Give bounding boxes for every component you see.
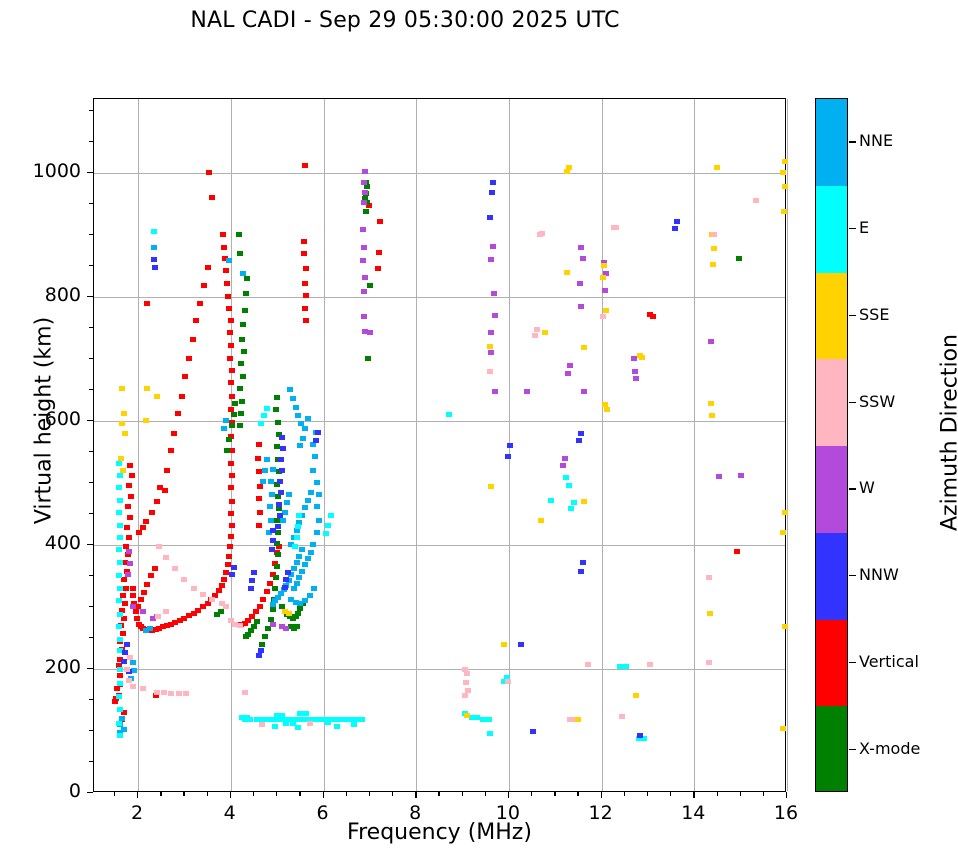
echo-point bbox=[601, 263, 607, 268]
echo-point bbox=[262, 468, 268, 473]
echo-point bbox=[708, 401, 714, 406]
echo-point bbox=[295, 413, 301, 418]
echo-point bbox=[176, 691, 182, 696]
echo-point bbox=[323, 531, 329, 536]
colorbar bbox=[815, 98, 848, 792]
echo-point bbox=[276, 506, 282, 511]
echo-point bbox=[117, 673, 123, 678]
echo-point bbox=[563, 475, 569, 480]
echo-point bbox=[229, 523, 235, 528]
echo-point bbox=[302, 598, 308, 603]
echo-point bbox=[490, 180, 496, 185]
echo-point bbox=[279, 713, 285, 718]
x-tick-major bbox=[508, 792, 509, 798]
echo-point bbox=[279, 468, 285, 473]
echo-point bbox=[256, 523, 262, 528]
echo-point bbox=[539, 231, 545, 236]
colorbar-title: Azimuth Direction bbox=[938, 303, 958, 563]
echo-point bbox=[781, 209, 787, 214]
echo-point bbox=[361, 245, 367, 250]
echo-point bbox=[224, 281, 230, 286]
echo-point bbox=[301, 239, 307, 244]
echo-point bbox=[225, 294, 231, 299]
x-tick-minor bbox=[369, 792, 370, 796]
echo-point bbox=[226, 437, 232, 442]
echo-point bbox=[711, 246, 717, 251]
echo-point bbox=[270, 622, 276, 627]
y-tick-major bbox=[87, 668, 93, 669]
echo-point bbox=[151, 229, 157, 234]
echo-point bbox=[581, 389, 587, 394]
echo-point bbox=[124, 642, 130, 647]
echo-point bbox=[237, 623, 243, 628]
echo-point bbox=[268, 518, 274, 523]
echo-point bbox=[244, 715, 250, 720]
echo-point bbox=[490, 244, 496, 249]
echo-point bbox=[782, 624, 788, 629]
echo-point bbox=[488, 350, 494, 355]
echo-point bbox=[487, 369, 493, 374]
echo-point bbox=[361, 289, 367, 294]
echo-point bbox=[126, 483, 132, 488]
echo-point bbox=[154, 499, 160, 504]
echo-point bbox=[116, 694, 122, 699]
echo-point bbox=[534, 327, 540, 332]
echo-point bbox=[256, 469, 262, 474]
echo-point bbox=[270, 538, 276, 543]
echo-point bbox=[257, 510, 263, 515]
echo-point bbox=[201, 283, 207, 288]
echo-point bbox=[613, 225, 619, 230]
echo-point bbox=[237, 386, 243, 391]
echo-point bbox=[359, 717, 365, 722]
echo-point bbox=[780, 726, 786, 731]
colorbar-label-e: E bbox=[859, 218, 869, 237]
echo-point bbox=[314, 504, 320, 509]
x-tick-minor bbox=[253, 792, 254, 796]
echo-point bbox=[227, 544, 233, 549]
echo-point bbox=[148, 573, 154, 578]
echo-point bbox=[229, 394, 235, 399]
echo-point bbox=[486, 717, 492, 722]
echo-point bbox=[297, 443, 303, 448]
echo-point bbox=[256, 442, 262, 447]
echo-point bbox=[163, 609, 169, 614]
x-tick-minor bbox=[114, 792, 115, 796]
echo-point bbox=[501, 642, 507, 647]
echo-point bbox=[564, 270, 570, 275]
echo-point bbox=[488, 257, 494, 262]
echo-point bbox=[147, 626, 153, 631]
echo-point bbox=[377, 219, 383, 224]
echo-point bbox=[260, 479, 266, 484]
colorbar-tick bbox=[849, 575, 856, 576]
echo-point bbox=[221, 577, 227, 582]
echo-point bbox=[232, 401, 238, 406]
x-tick-minor bbox=[160, 792, 161, 796]
echo-point bbox=[542, 330, 548, 335]
echo-point bbox=[262, 634, 268, 639]
x-tick-minor bbox=[763, 792, 764, 796]
echo-point bbox=[193, 318, 199, 323]
echo-point bbox=[152, 566, 158, 571]
x-tick-minor bbox=[531, 792, 532, 796]
echo-point bbox=[131, 668, 137, 673]
echo-point bbox=[127, 561, 133, 566]
y-tick-major bbox=[87, 544, 93, 545]
echo-point bbox=[492, 389, 498, 394]
echo-point bbox=[632, 369, 638, 374]
echo-point bbox=[292, 544, 298, 549]
echo-point bbox=[223, 268, 229, 273]
echo-point bbox=[216, 588, 222, 593]
colorbar-label-x-mode: X-mode bbox=[859, 739, 920, 758]
echo-point bbox=[228, 380, 234, 385]
echo-point bbox=[117, 637, 123, 642]
echo-point bbox=[270, 467, 276, 472]
x-tick-major bbox=[137, 792, 138, 798]
x-tick-minor bbox=[207, 792, 208, 796]
echo-point bbox=[487, 731, 493, 736]
colorbar-label-ssw: SSW bbox=[859, 392, 895, 411]
echo-point bbox=[270, 602, 276, 607]
echo-point bbox=[117, 681, 123, 686]
echo-point bbox=[116, 485, 122, 490]
echo-point bbox=[134, 616, 140, 621]
y-tick-minor bbox=[89, 141, 93, 142]
echo-point bbox=[782, 510, 788, 515]
echo-point bbox=[489, 190, 495, 195]
echo-point bbox=[220, 232, 226, 237]
echo-point bbox=[316, 492, 322, 497]
echo-point bbox=[284, 500, 290, 505]
echo-point bbox=[140, 609, 146, 614]
echo-point bbox=[562, 456, 568, 461]
x-tick-minor bbox=[740, 792, 741, 796]
echo-point bbox=[130, 604, 136, 609]
echo-point bbox=[578, 245, 584, 250]
echo-point bbox=[278, 457, 284, 462]
echo-point bbox=[200, 592, 206, 597]
echo-point bbox=[294, 624, 300, 629]
y-tick-minor bbox=[89, 575, 93, 576]
echo-point bbox=[205, 265, 211, 270]
echo-point bbox=[637, 733, 643, 738]
colorbar-tick bbox=[849, 228, 856, 229]
y-tick-minor bbox=[89, 482, 93, 483]
echo-point bbox=[116, 547, 122, 552]
echo-point bbox=[249, 578, 255, 583]
echo-point bbox=[287, 387, 293, 392]
echo-point bbox=[248, 586, 254, 591]
echo-point bbox=[154, 394, 160, 399]
echo-point bbox=[302, 281, 308, 286]
echo-point bbox=[244, 276, 250, 281]
echo-point bbox=[275, 552, 281, 557]
echo-point bbox=[121, 727, 127, 732]
echo-point bbox=[264, 589, 270, 594]
echo-point bbox=[141, 590, 147, 595]
echo-point bbox=[283, 577, 289, 582]
echo-point bbox=[261, 413, 267, 418]
echo-point bbox=[191, 586, 197, 591]
echo-point bbox=[295, 611, 301, 616]
echo-point bbox=[116, 573, 122, 578]
echo-point bbox=[633, 693, 639, 698]
echo-point bbox=[302, 562, 308, 567]
echo-point bbox=[268, 479, 274, 484]
x-tick-minor bbox=[485, 792, 486, 796]
echo-point bbox=[129, 473, 135, 478]
echo-point bbox=[227, 356, 233, 361]
echo-point bbox=[328, 513, 334, 518]
x-tick-minor bbox=[276, 792, 277, 796]
echo-point bbox=[126, 535, 132, 540]
echo-point bbox=[302, 306, 308, 311]
echo-point bbox=[518, 642, 524, 647]
echo-point bbox=[487, 344, 493, 349]
y-tick-minor bbox=[89, 637, 93, 638]
echo-point bbox=[302, 163, 308, 168]
echo-point bbox=[446, 412, 452, 417]
echo-point bbox=[239, 399, 245, 404]
echo-point bbox=[297, 606, 303, 611]
echo-point bbox=[127, 655, 133, 660]
echo-point bbox=[298, 421, 304, 426]
echo-point bbox=[144, 582, 150, 587]
echo-point bbox=[144, 301, 150, 306]
echo-point bbox=[307, 721, 313, 726]
echo-point bbox=[238, 361, 244, 366]
y-tick-label: 0 bbox=[11, 780, 81, 802]
figure-title: NAL CADI - Sep 29 05:30:00 2025 UTC bbox=[0, 8, 810, 33]
echo-point bbox=[229, 499, 235, 504]
echo-point bbox=[136, 530, 142, 535]
echo-point bbox=[226, 258, 232, 263]
y-tick-major bbox=[87, 420, 93, 421]
echo-point bbox=[121, 577, 127, 582]
echo-point bbox=[362, 169, 368, 174]
echo-point bbox=[464, 713, 470, 718]
echo-point bbox=[197, 301, 203, 306]
echo-point bbox=[283, 626, 289, 631]
echo-point bbox=[294, 581, 300, 586]
echo-point bbox=[308, 550, 314, 555]
echo-point bbox=[753, 198, 759, 203]
gridline-x bbox=[787, 99, 788, 791]
colorbar-segment-e bbox=[816, 186, 847, 273]
colorbar-tick bbox=[849, 315, 856, 316]
echo-point bbox=[564, 169, 570, 174]
x-tick-major bbox=[601, 792, 602, 798]
echo-point bbox=[121, 411, 127, 416]
echo-point bbox=[120, 468, 126, 473]
echo-point bbox=[126, 678, 132, 683]
echo-point bbox=[130, 586, 136, 591]
echo-point bbox=[116, 721, 122, 726]
echo-point bbox=[251, 570, 257, 575]
echo-point bbox=[116, 624, 122, 629]
echo-point bbox=[294, 560, 300, 565]
echo-point bbox=[734, 549, 740, 554]
echo-point bbox=[258, 421, 264, 426]
echo-point bbox=[164, 468, 170, 473]
echo-point bbox=[314, 480, 320, 485]
echo-point bbox=[505, 679, 511, 684]
echo-point bbox=[126, 549, 132, 554]
echo-point bbox=[367, 283, 373, 288]
echo-point bbox=[295, 524, 301, 529]
echo-point bbox=[130, 684, 136, 689]
echo-point bbox=[463, 680, 469, 685]
colorbar-label-nne: NNE bbox=[859, 131, 893, 150]
echo-point bbox=[163, 555, 169, 560]
echo-point bbox=[260, 597, 266, 602]
echo-point bbox=[782, 184, 788, 189]
echo-point bbox=[283, 721, 289, 726]
echo-point bbox=[273, 575, 279, 580]
echo-point bbox=[133, 609, 139, 614]
echo-point bbox=[155, 614, 161, 619]
echo-point bbox=[127, 515, 133, 520]
echo-point bbox=[276, 502, 282, 507]
echo-point bbox=[228, 511, 234, 516]
echo-point bbox=[272, 724, 278, 729]
echo-point bbox=[270, 607, 276, 612]
echo-point bbox=[149, 510, 155, 515]
echo-point bbox=[711, 232, 717, 237]
echo-point bbox=[567, 363, 573, 368]
echo-point bbox=[286, 611, 292, 616]
echo-point bbox=[120, 631, 126, 636]
colorbar-label-sse: SSE bbox=[859, 305, 889, 324]
echo-point bbox=[491, 291, 497, 296]
echo-point bbox=[585, 662, 591, 667]
echo-point bbox=[138, 597, 144, 602]
echo-point bbox=[581, 345, 587, 350]
echo-point bbox=[124, 525, 130, 530]
echo-point bbox=[364, 184, 370, 189]
data-points-layer bbox=[94, 99, 785, 791]
echo-point bbox=[277, 479, 283, 484]
echo-point bbox=[575, 717, 581, 722]
plot-area bbox=[93, 98, 786, 792]
echo-point bbox=[269, 492, 275, 497]
echo-point bbox=[186, 356, 192, 361]
echo-point bbox=[488, 484, 494, 489]
echo-point bbox=[117, 535, 123, 540]
colorbar-segment-w bbox=[816, 446, 847, 533]
echo-point bbox=[125, 504, 131, 509]
echo-point bbox=[639, 355, 645, 360]
echo-point bbox=[143, 418, 149, 423]
echo-point bbox=[334, 724, 340, 729]
echo-point bbox=[122, 601, 128, 606]
echo-point bbox=[243, 291, 249, 296]
echo-point bbox=[576, 438, 582, 443]
echo-point bbox=[116, 461, 122, 466]
echo-point bbox=[229, 473, 235, 478]
echo-point bbox=[114, 686, 120, 691]
x-tick-minor bbox=[392, 792, 393, 796]
echo-point bbox=[313, 438, 319, 443]
echo-point bbox=[181, 577, 187, 582]
echo-point bbox=[277, 513, 283, 518]
echo-point bbox=[282, 510, 288, 515]
echo-point bbox=[462, 693, 468, 698]
colorbar-tick bbox=[849, 749, 856, 750]
colorbar-segment-x-mode bbox=[816, 706, 847, 792]
echo-point bbox=[285, 570, 291, 575]
echo-point bbox=[714, 165, 720, 170]
echo-point bbox=[151, 245, 157, 250]
echo-point bbox=[296, 554, 302, 559]
x-tick-major bbox=[786, 792, 787, 798]
y-tick-label: 1000 bbox=[11, 160, 81, 182]
echo-point bbox=[117, 560, 123, 565]
echo-point bbox=[565, 371, 571, 376]
echo-point bbox=[571, 500, 577, 505]
echo-point bbox=[151, 257, 157, 262]
echo-point bbox=[127, 463, 133, 468]
echo-point bbox=[274, 395, 280, 400]
echo-point bbox=[152, 265, 158, 270]
echo-point bbox=[275, 420, 281, 425]
echo-point bbox=[122, 431, 128, 436]
echo-point bbox=[603, 308, 609, 313]
colorbar-tick bbox=[849, 662, 856, 663]
echo-point bbox=[376, 250, 382, 255]
echo-point bbox=[780, 170, 786, 175]
echo-point bbox=[161, 690, 167, 695]
echo-point bbox=[706, 660, 712, 665]
echo-point bbox=[303, 293, 309, 298]
echo-point bbox=[269, 547, 275, 552]
echo-point bbox=[363, 209, 369, 214]
echo-point bbox=[190, 337, 196, 342]
echo-point bbox=[310, 468, 316, 473]
echo-point bbox=[566, 483, 572, 488]
echo-point bbox=[296, 575, 302, 580]
x-tick-minor bbox=[624, 792, 625, 796]
echo-point bbox=[264, 457, 270, 462]
echo-point bbox=[296, 513, 302, 518]
echo-point bbox=[602, 288, 608, 293]
echo-point bbox=[708, 339, 714, 344]
echo-point bbox=[274, 564, 280, 569]
echo-point bbox=[569, 717, 575, 722]
echo-point bbox=[255, 456, 261, 461]
echo-point bbox=[144, 386, 150, 391]
echo-point bbox=[157, 485, 163, 490]
colorbar-tick bbox=[849, 488, 856, 489]
echo-point bbox=[227, 330, 233, 335]
echo-point bbox=[311, 586, 317, 591]
echo-point bbox=[231, 412, 237, 417]
x-axis-title: Frequency (MHz) bbox=[93, 820, 786, 845]
echo-point bbox=[257, 484, 263, 489]
echo-point bbox=[578, 304, 584, 309]
echo-point bbox=[116, 510, 122, 515]
echo-point bbox=[507, 443, 513, 448]
echo-point bbox=[228, 485, 234, 490]
echo-point bbox=[299, 547, 305, 552]
echo-point bbox=[124, 667, 130, 672]
echo-point bbox=[600, 314, 606, 319]
x-tick-minor bbox=[554, 792, 555, 796]
echo-point bbox=[239, 337, 245, 342]
echo-point bbox=[229, 423, 235, 428]
